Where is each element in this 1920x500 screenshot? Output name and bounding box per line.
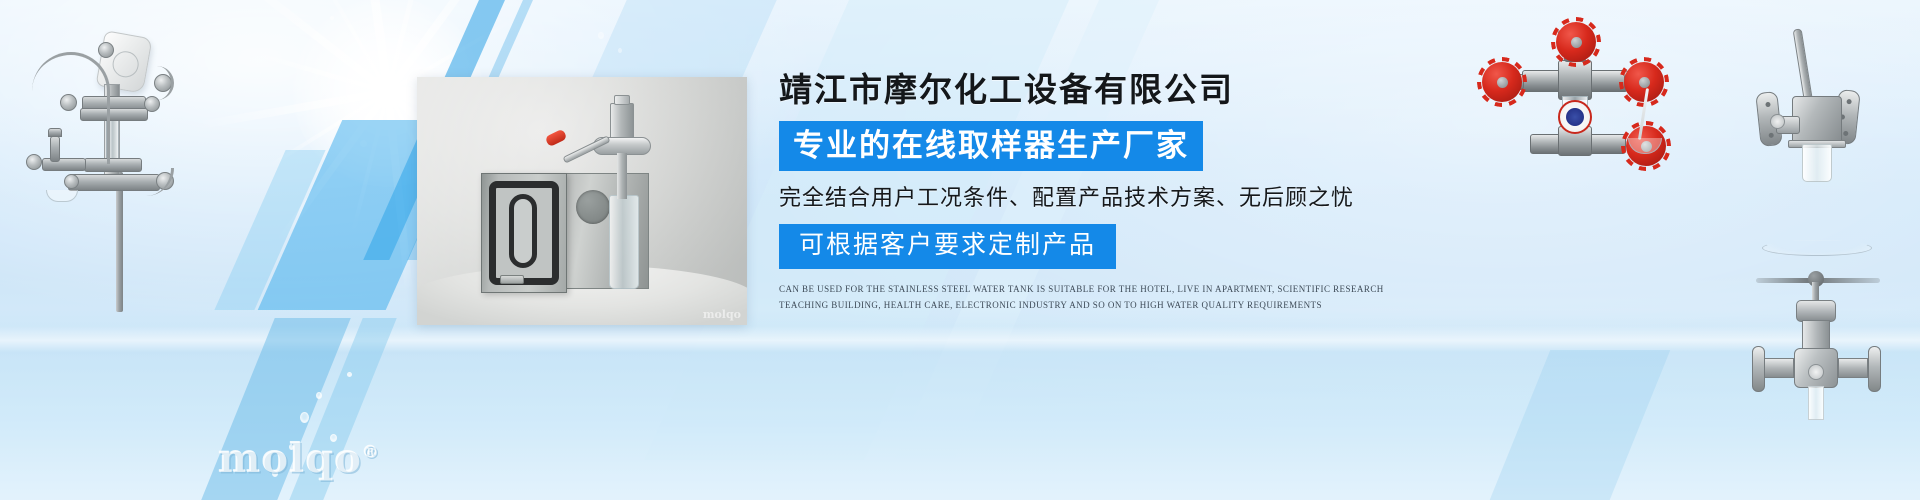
- handwheel-icon: [1482, 62, 1522, 102]
- water-droplet-icon: [618, 48, 622, 53]
- valve-arm-left: [1764, 358, 1794, 378]
- water-droplet-icon: [316, 392, 322, 399]
- water-droplet-icon: [300, 412, 309, 423]
- registered-mark-icon: ®: [362, 443, 380, 463]
- valve-nameplate: [1770, 114, 1785, 129]
- tagline-primary-badge: 专业的在线取样器生产厂家: [779, 121, 1203, 171]
- product-photo-sampler-cabinet: molqo: [417, 77, 747, 325]
- door-window: [509, 194, 537, 268]
- tagline-secondary-badge: 可根据客户要求定制产品: [779, 224, 1116, 269]
- flex-tube: [140, 66, 174, 100]
- lens-flare-dot: [330, 16, 334, 20]
- cabinet-top-valve: [593, 99, 651, 177]
- valve-flange-left: [1752, 346, 1765, 392]
- flex-tube: [138, 168, 174, 196]
- valve-stem: [617, 153, 627, 199]
- valve-flange-right: [1868, 346, 1881, 392]
- photo-watermark: molqo: [703, 308, 741, 321]
- seal-inner: [1566, 108, 1584, 126]
- sample-glass: [46, 190, 78, 202]
- fineprint-text: CAN BE USED FOR THE STAINLESS STEEL WATE…: [779, 282, 1389, 314]
- overhead-dish: [1762, 240, 1872, 256]
- product-image-cross-manifold: [1478, 26, 1668, 156]
- lens-flare-dot: [360, 140, 367, 147]
- sample-bottle: [609, 195, 639, 289]
- handwheel-icon: [1556, 22, 1596, 62]
- pipe-flange: [98, 42, 114, 58]
- product-image-lever-valve: [1740, 22, 1890, 202]
- valve-nameplate: [1808, 364, 1824, 380]
- promo-banner: molqo®: [0, 0, 1920, 500]
- product-image-t-handle-valve: [1742, 238, 1892, 418]
- product-image-left-sampler: [8, 22, 188, 312]
- water-droplet-icon: [598, 32, 604, 39]
- door-latch: [500, 275, 524, 284]
- banner-description: 完全结合用户工况条件、配置产品技术方案、无后顾之忧: [779, 184, 1429, 212]
- company-name: 靖江市摩尔化工设备有限公司: [779, 72, 1429, 108]
- stand-post: [116, 172, 123, 312]
- sample-bottle: [1802, 144, 1832, 182]
- watermark-text: molqo: [218, 435, 362, 482]
- banner-copy-block: 靖江市摩尔化工设备有限公司 专业的在线取样器生产厂家 完全结合用户工况条件、配置…: [779, 72, 1429, 313]
- valve-bonnet: [1796, 300, 1836, 322]
- cabinet-door: [481, 173, 567, 293]
- outlet-tube: [1808, 386, 1824, 420]
- water-droplet-icon: [347, 372, 352, 377]
- company-seal-logo: [1558, 100, 1592, 134]
- brand-watermark: molqo®: [218, 435, 380, 482]
- valve-cap: [614, 95, 630, 105]
- flex-tube: [32, 52, 110, 164]
- valve-arm-right: [1838, 358, 1868, 378]
